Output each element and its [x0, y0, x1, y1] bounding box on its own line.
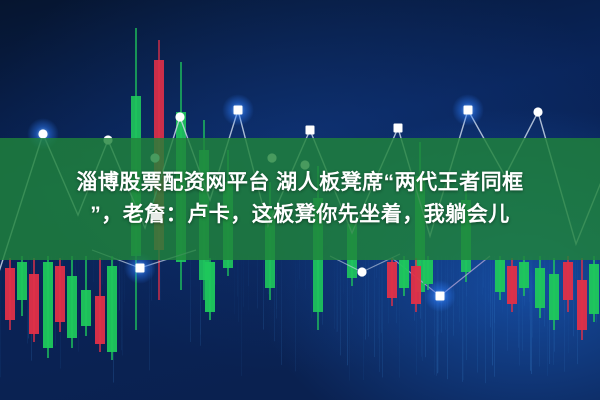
headline-line-2: ”，老詹：卢卡，这板凳你先坐着，我躺会儿	[90, 202, 510, 228]
headline-block: 淄博股票配资网平台 湖人板凳席“两代王者同框 ”，老詹：卢卡，这板凳你先坐着，我…	[0, 138, 600, 260]
banner-image: 淄博股票配资网平台 湖人板凳席“两代王者同框 ”，老詹：卢卡，这板凳你先坐着，我…	[0, 0, 600, 400]
headline-line-1: 淄博股票配资网平台 湖人板凳席“两代王者同框	[76, 170, 523, 196]
